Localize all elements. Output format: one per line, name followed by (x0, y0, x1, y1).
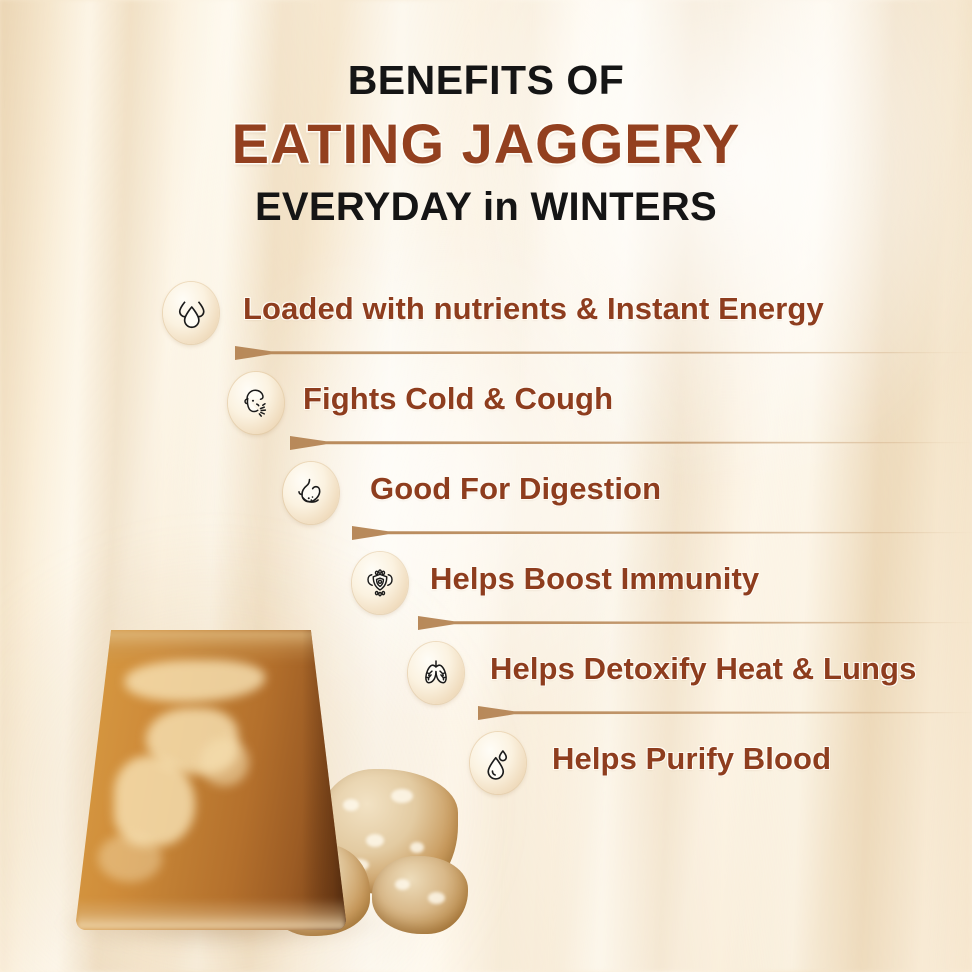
immunity-shield-icon (352, 552, 408, 614)
headline-line-1: BENEFITS OF (0, 60, 972, 101)
benefit-row[interactable]: Helps Detoxify Heat & Lungs (0, 642, 972, 732)
blood-drop-icon (470, 732, 526, 794)
benefit-label: Loaded with nutrients & Instant Energy (243, 291, 824, 327)
benefit-label: Fights Cold & Cough (303, 381, 613, 417)
benefit-row[interactable]: Fights Cold & Cough (0, 372, 972, 462)
benefit-row[interactable]: Helps Boost Immunity (0, 552, 972, 642)
connector-arrow (290, 434, 972, 452)
connector-arrow (235, 344, 972, 362)
benefit-label: Helps Purify Blood (552, 741, 831, 777)
benefit-row[interactable]: Good For Digestion (0, 462, 972, 552)
jaggery-benefits-poster: BENEFITS OF EATING JAGGERY EVERYDAY in W… (0, 0, 972, 972)
benefits-list: Loaded with nutrients & Instant Energy (0, 282, 972, 822)
jaggery-chunk-right (372, 856, 468, 934)
stomach-icon (283, 462, 339, 524)
sneezing-person-icon (228, 372, 284, 434)
connector-arrow (418, 614, 972, 632)
connector-arrow (352, 524, 972, 542)
headline-line-2: EATING JAGGERY (0, 113, 972, 176)
lungs-icon (408, 642, 464, 704)
droplets-nutrients-icon (163, 282, 219, 344)
connector-arrow (478, 704, 972, 722)
headline-line-3: EVERYDAY in WINTERS (0, 187, 972, 227)
benefit-label: Helps Boost Immunity (430, 561, 759, 597)
benefit-row[interactable]: Loaded with nutrients & Instant Energy (0, 282, 972, 372)
benefit-row[interactable]: Helps Purify Blood (0, 732, 972, 822)
benefit-label: Helps Detoxify Heat & Lungs (490, 651, 916, 687)
benefit-label: Good For Digestion (370, 471, 661, 507)
poster-headline: BENEFITS OF EATING JAGGERY EVERYDAY in W… (0, 60, 972, 227)
